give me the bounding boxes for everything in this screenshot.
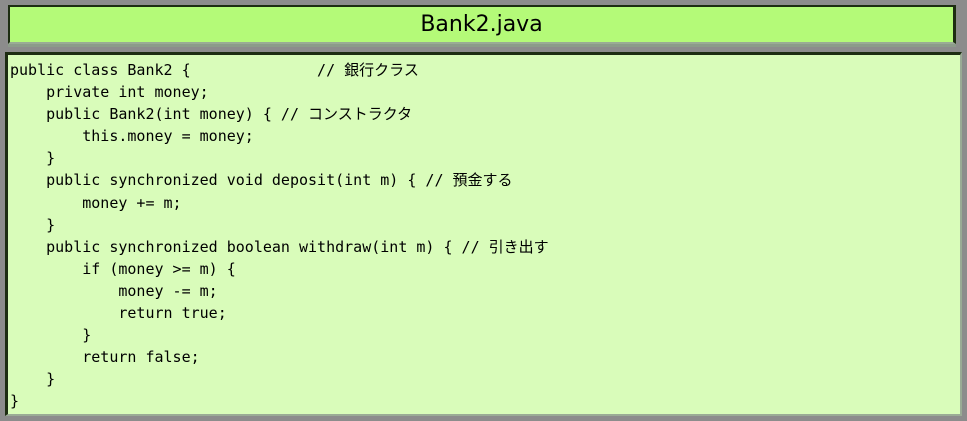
code-scroll-area: public class Bank2 { // 銀行クラス private in…	[8, 55, 960, 414]
file-title-bar: Bank2.java	[8, 5, 956, 44]
code-listing-page: Bank2.java public class Bank2 { // 銀行クラス…	[0, 0, 967, 421]
page-title: Bank2.java	[420, 14, 542, 36]
title-bar-divider	[8, 44, 956, 47]
source-code-block: public class Bank2 { // 銀行クラス private in…	[10, 59, 960, 413]
code-panel: public class Bank2 { // 銀行クラス private in…	[5, 52, 962, 416]
